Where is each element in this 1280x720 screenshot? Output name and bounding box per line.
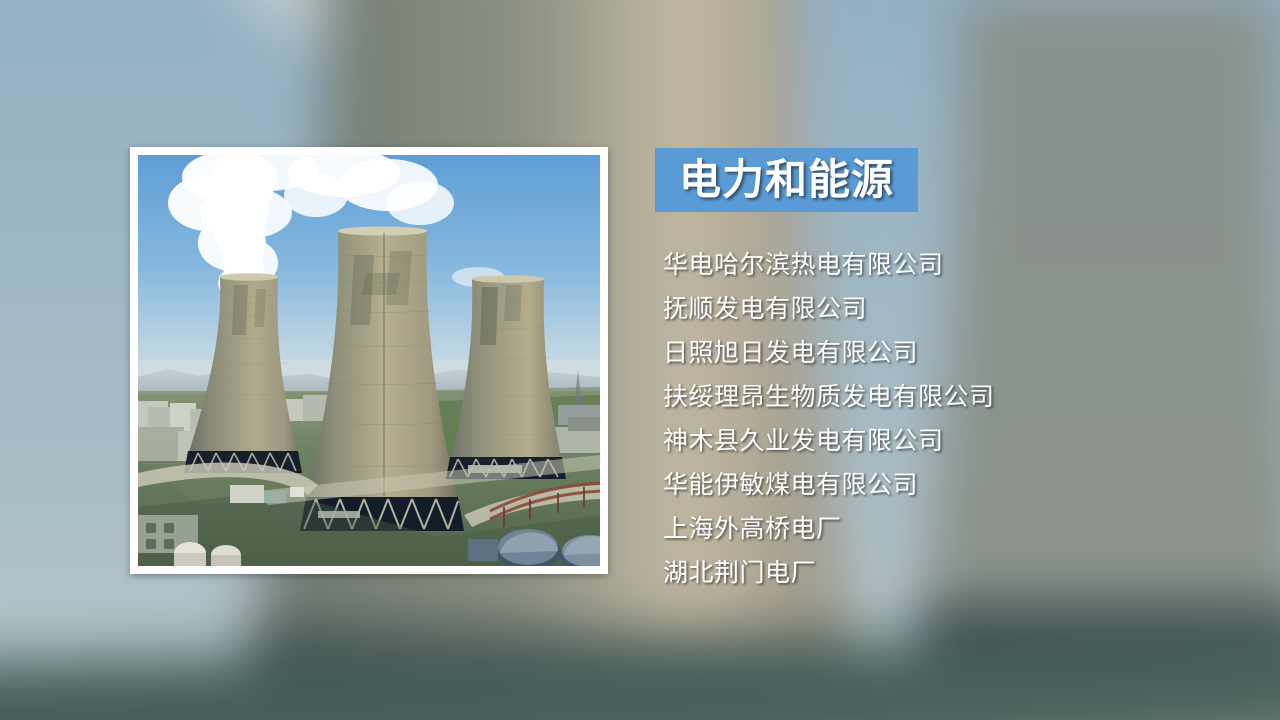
list-item: 华能伊敏煤电有限公司 xyxy=(663,463,1253,507)
list-item: 日照旭日发电有限公司 xyxy=(663,331,1253,375)
list-item: 湖北荆门电厂 xyxy=(663,551,1253,595)
slide-root: 电力和能源 华电哈尔滨热电有限公司 抚顺发电有限公司 日照旭日发电有限公司 扶绥… xyxy=(0,0,1280,720)
power-plant-photo xyxy=(138,155,600,566)
list-item: 扶绥理昂生物质发电有限公司 xyxy=(663,375,1253,419)
power-plant-photo-frame xyxy=(130,147,608,574)
list-item: 抚顺发电有限公司 xyxy=(663,287,1253,331)
company-list: 华电哈尔滨热电有限公司 抚顺发电有限公司 日照旭日发电有限公司 扶绥理昂生物质发… xyxy=(663,243,1253,595)
list-item: 上海外高桥电厂 xyxy=(663,507,1253,551)
list-item: 华电哈尔滨热电有限公司 xyxy=(663,243,1253,287)
page-title: 电力和能源 xyxy=(679,159,894,201)
cooling-towers-artwork xyxy=(138,155,600,566)
list-item: 神木县久业发电有限公司 xyxy=(663,419,1253,463)
section-title-banner: 电力和能源 xyxy=(655,148,918,212)
